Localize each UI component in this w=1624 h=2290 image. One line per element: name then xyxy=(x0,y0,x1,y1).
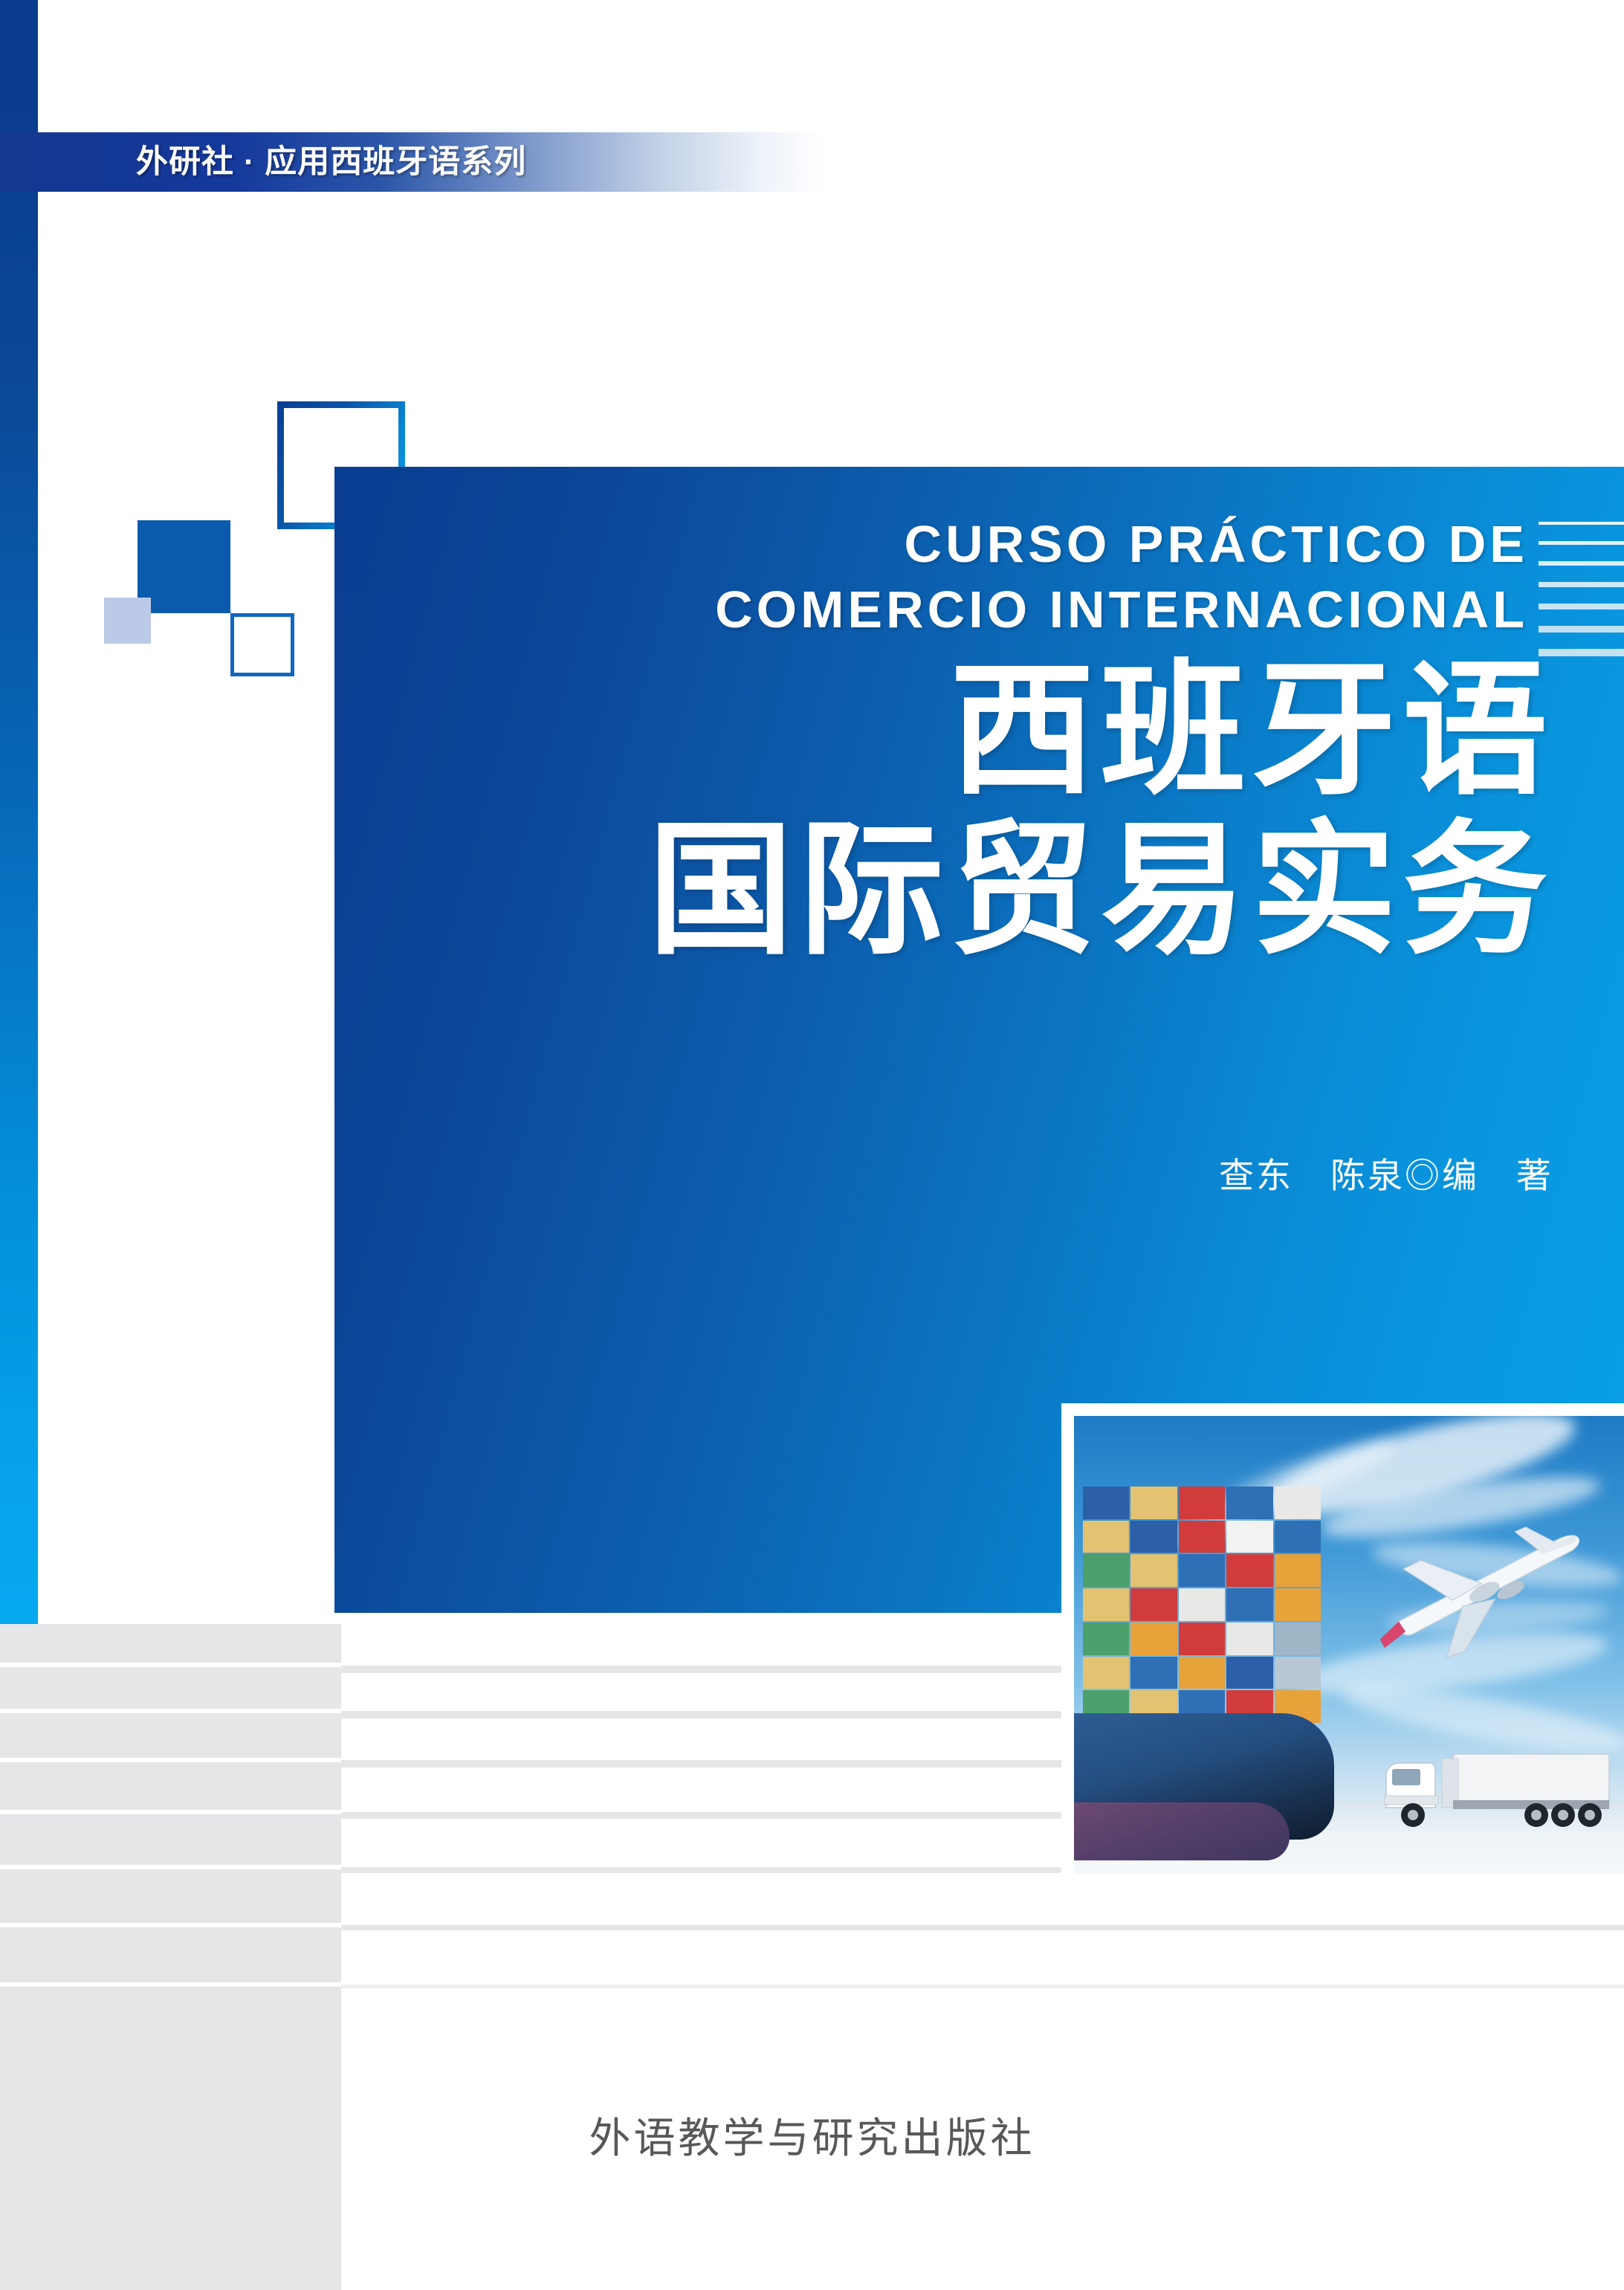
main-title-line-1: 西班牙语 xyxy=(334,651,1553,811)
cargo-airplane-icon xyxy=(1362,1513,1608,1661)
logistics-photo-frame xyxy=(1061,1403,1624,1875)
stripe-separator xyxy=(341,1925,1624,1930)
left-gradient-spine xyxy=(0,0,38,1624)
author-line: 查东 陈泉◎编 著 xyxy=(334,1147,1568,1198)
decor-filled-square-medium xyxy=(138,520,230,613)
main-title: 西班牙语 国际贸易实务 xyxy=(334,651,1568,971)
series-banner-label: 外研社 · 应用西班牙语系列 xyxy=(136,136,526,188)
spanish-subtitle: CURSO PRÁCTICO DE COMERCIO INTERNACIONAL xyxy=(334,511,1539,642)
spanish-subtitle-line-1: CURSO PRÁCTICO DE xyxy=(334,511,1528,577)
container-stack-icon xyxy=(1083,1487,1321,1723)
spanish-subtitle-line-2: COMERCIO INTERNACIONAL xyxy=(334,577,1528,642)
decor-light-square-small xyxy=(104,598,151,644)
stripe-band xyxy=(0,1927,1624,1982)
semi-truck-icon xyxy=(1371,1748,1617,1837)
book-cover: CURSO PRÁCTICO DE COMERCIO INTERNACIONAL… xyxy=(0,0,1624,2290)
ship-bulbous-bow xyxy=(1074,1802,1290,1860)
logistics-photo xyxy=(1074,1416,1624,1875)
decor-outline-square-small xyxy=(230,613,294,676)
stripe-separator xyxy=(341,1985,1624,1988)
stripe-band xyxy=(0,1869,1624,1923)
main-title-line-2: 国际贸易实务 xyxy=(334,811,1553,971)
publisher-name: 外语教学与研究出版社 xyxy=(0,2105,1624,2165)
